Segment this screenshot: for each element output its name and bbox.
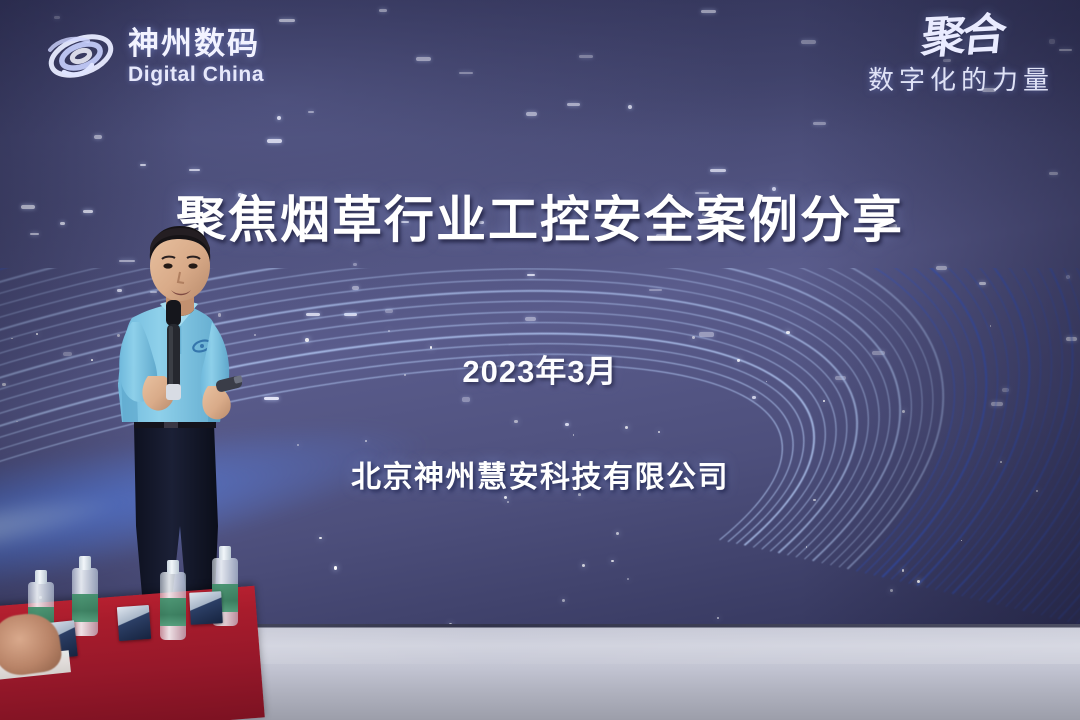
wave-spark bbox=[36, 333, 38, 335]
particle-dot bbox=[94, 135, 102, 139]
wave-spark bbox=[582, 564, 585, 567]
wave-spark bbox=[625, 426, 628, 429]
brand-calligraphy: 聚合 bbox=[920, 14, 1005, 60]
wave-spark bbox=[305, 338, 309, 342]
wave-spark bbox=[573, 434, 575, 436]
particle-dot bbox=[353, 263, 357, 266]
wave-spark bbox=[514, 420, 518, 424]
particle-dot bbox=[567, 103, 580, 106]
wave-spark bbox=[16, 421, 17, 422]
logo-english-name: Digital China bbox=[128, 64, 264, 85]
particle-dot bbox=[54, 16, 60, 19]
particle-dot bbox=[801, 40, 816, 44]
wave-spark bbox=[823, 400, 825, 402]
wave-spark bbox=[961, 540, 962, 541]
particle-dot bbox=[267, 139, 282, 143]
particle-dot bbox=[277, 116, 281, 120]
wave-spark bbox=[504, 496, 507, 499]
wave-spark bbox=[507, 501, 509, 503]
water-bottle bbox=[72, 556, 98, 636]
conference-stage-photo: 神州数码 Digital China 聚合 数字化的力量 聚焦烟草行业工控安全案… bbox=[0, 0, 1080, 720]
particle-dot bbox=[1049, 172, 1058, 175]
brand-subtitle: 数字化的力量 bbox=[868, 60, 1054, 97]
logo-chinese-name: 神州数码 bbox=[128, 28, 264, 59]
particle-dot bbox=[628, 105, 632, 109]
water-bottle bbox=[160, 560, 186, 640]
particle-dot bbox=[459, 72, 473, 75]
particle-dot bbox=[710, 169, 726, 172]
particle-dot bbox=[416, 57, 432, 61]
particle-dot bbox=[813, 122, 825, 126]
digital-china-spiral-icon bbox=[44, 22, 118, 90]
particle-dot bbox=[279, 19, 295, 22]
wave-spark bbox=[611, 560, 613, 562]
wave-spark bbox=[806, 546, 807, 547]
name-plate bbox=[189, 591, 223, 625]
wave-spark bbox=[902, 569, 904, 571]
digital-china-logo: 神州数码 Digital China bbox=[44, 22, 264, 90]
name-plate bbox=[117, 605, 151, 641]
particle-dot bbox=[140, 164, 146, 166]
wave-spark bbox=[658, 431, 659, 432]
particle-dot bbox=[1059, 49, 1072, 52]
particle-dot bbox=[701, 10, 716, 12]
event-brand-block: 聚合 数字化的力量 bbox=[868, 16, 1054, 97]
wave-spark bbox=[334, 566, 338, 570]
particle-dot bbox=[379, 9, 388, 12]
particle-dot bbox=[308, 111, 314, 113]
wave-spark bbox=[902, 410, 905, 413]
particle-dot bbox=[579, 55, 593, 58]
wave-spark bbox=[365, 440, 367, 442]
particle-dot bbox=[526, 112, 537, 115]
particle-dot bbox=[189, 169, 200, 171]
wave-spark bbox=[319, 537, 321, 539]
